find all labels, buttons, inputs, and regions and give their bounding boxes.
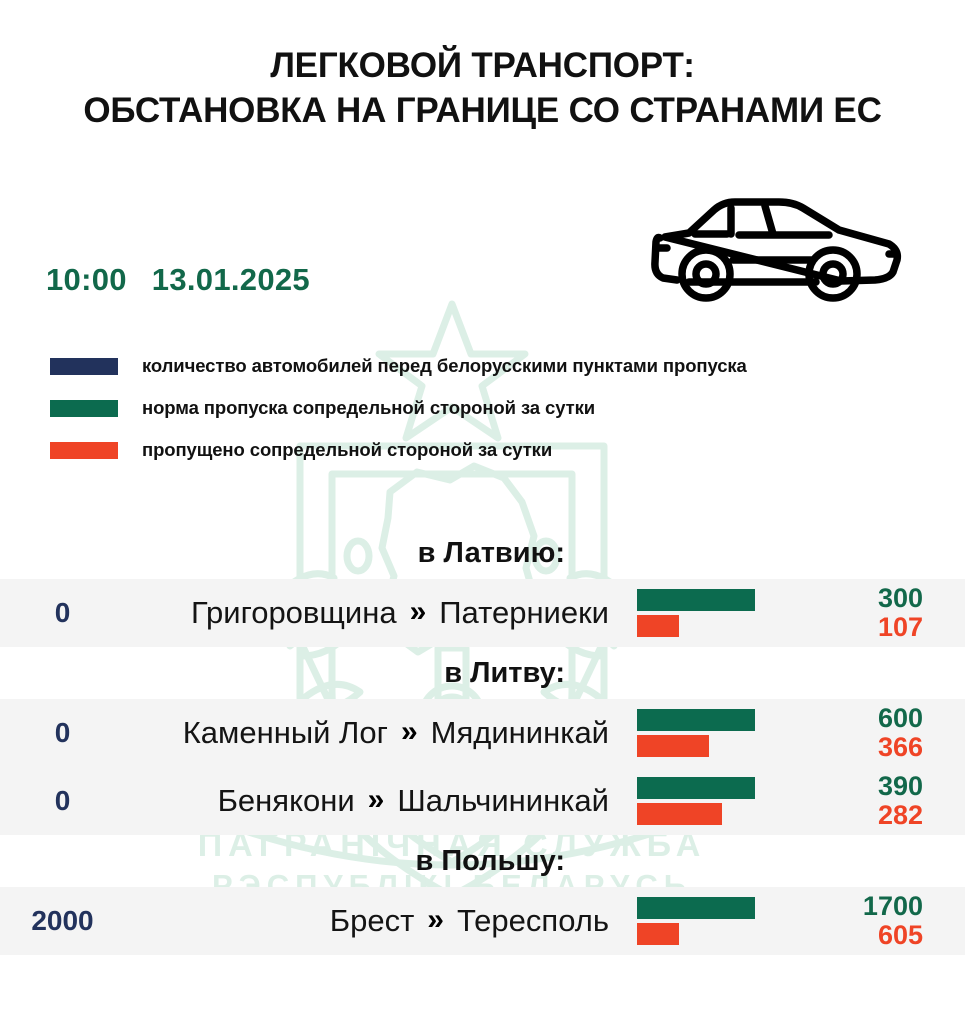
route-to: Патерниеки [439,595,609,631]
value-norm: 1700 [845,892,923,921]
bar-passed [637,803,722,825]
queue-count: 0 [0,717,125,749]
queue-count: 2000 [0,905,125,937]
legend-label-queue: количество автомобилей перед белорусским… [142,355,747,377]
legend-label-passed: пропущено сопредельной стороной за сутки [142,439,552,461]
bar-norm [637,777,755,799]
queue-count: 0 [0,597,125,629]
value-passed: 282 [845,801,923,830]
routes-list: в Латвию: 0 Григоровщина » Патерниеки 30… [0,527,965,955]
route-name: Каменный Лог » Мядининкай [125,715,627,751]
double-chevron-icon: » [410,597,427,627]
route-to: Шальчининкай [397,783,609,819]
car-icon [643,186,908,302]
double-chevron-icon: » [368,785,385,815]
route-from: Каменный Лог [183,715,388,751]
route-to: Мядининкай [431,715,609,751]
table-row: 0 Каменный Лог » Мядининкай 600 366 [0,699,965,767]
bar-group [627,777,845,825]
route-name: Григоровщина » Патерниеки [125,595,627,631]
bar-group [627,589,845,637]
bar-passed [637,735,709,757]
double-chevron-icon: » [401,717,418,747]
bar-norm [637,709,755,731]
timestamp: 10:00 13.01.2025 [46,262,310,298]
infographic-page: ПАГРАНІЧНАЯ СЛУЖБА РЭСПУБЛІКІ БЕЛАРУСЬ Л… [0,0,965,1024]
title-line-1: ЛЕГКОВОЙ ТРАНСПОРТ: [0,44,965,89]
page-title: ЛЕГКОВОЙ ТРАНСПОРТ: ОБСТАНОВКА НА ГРАНИЦ… [0,44,965,134]
bar-norm [637,897,755,919]
value-passed: 366 [845,733,923,762]
route-from: Брест [330,903,415,939]
title-line-2: ОБСТАНОВКА НА ГРАНИЦЕ СО СТРАНАМИ ЕС [0,89,965,134]
route-name: Бенякони » Шальчининкай [125,783,627,819]
bar-passed [637,615,679,637]
legend-item-norm: норма пропуска сопредельной стороной за … [50,387,940,429]
value-group: 300 107 [845,584,965,642]
legend-swatch-queue [50,358,118,375]
route-name: Брест » Тересполь [125,903,627,939]
legend-swatch-norm [50,400,118,417]
value-norm: 600 [845,704,923,733]
route-from: Григоровщина [191,595,397,631]
value-group: 390 282 [845,772,965,830]
route-to: Тересполь [457,903,609,939]
bar-passed [637,923,679,945]
legend: количество автомобилей перед белорусским… [50,345,940,471]
bar-group [627,709,845,757]
section-header-lithuania: в Литву: [0,647,965,699]
bar-norm [637,589,755,611]
value-group: 600 366 [845,704,965,762]
legend-item-passed: пропущено сопредельной стороной за сутки [50,429,940,471]
value-group: 1700 605 [845,892,965,950]
value-passed: 605 [845,921,923,950]
value-passed: 107 [845,613,923,642]
table-row: 2000 Брест » Тересполь 1700 605 [0,887,965,955]
queue-count: 0 [0,785,125,817]
route-from: Бенякони [218,783,355,819]
section-header-poland: в Польшу: [0,835,965,887]
section-header-latvia: в Латвию: [0,527,965,579]
value-norm: 300 [845,584,923,613]
bar-group [627,897,845,945]
timestamp-time: 10:00 [46,262,127,298]
timestamp-date: 13.01.2025 [152,262,310,298]
legend-item-queue: количество автомобилей перед белорусским… [50,345,940,387]
legend-swatch-passed [50,442,118,459]
double-chevron-icon: » [427,905,444,935]
legend-label-norm: норма пропуска сопредельной стороной за … [142,397,595,419]
value-norm: 390 [845,772,923,801]
table-row: 0 Бенякони » Шальчининкай 390 282 [0,767,965,835]
table-row: 0 Григоровщина » Патерниеки 300 107 [0,579,965,647]
